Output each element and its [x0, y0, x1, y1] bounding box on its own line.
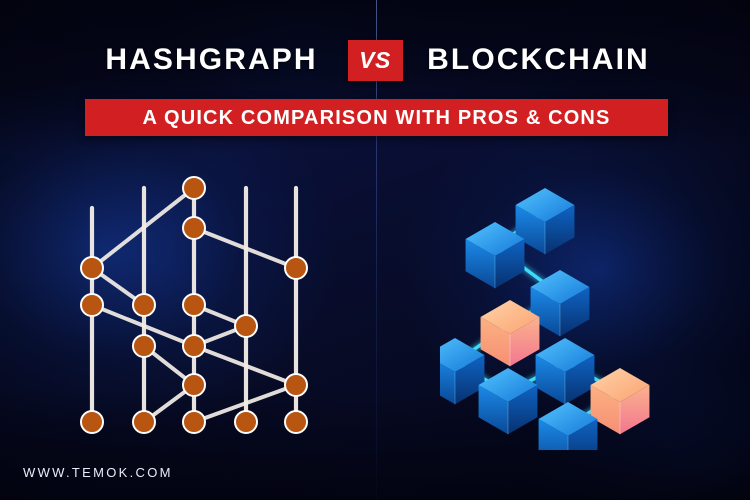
hashgraph-node-n1 — [183, 177, 205, 199]
hashgraph-node-n16 — [235, 411, 257, 433]
blockchain-diagram — [440, 160, 700, 450]
blockchain-cube-c9 — [539, 402, 598, 450]
hashgraph-node-n8 — [235, 315, 257, 337]
hashgraph-node-n10 — [183, 335, 205, 357]
hashgraph-node-n15 — [183, 411, 205, 433]
vs-badge: VS — [348, 40, 403, 81]
hashgraph-node-n14 — [133, 411, 155, 433]
hashgraph-svg — [60, 160, 350, 450]
hashgraph-node-n11 — [183, 374, 205, 396]
header: HASHGRAPH VS BLOCKCHAIN A QUICK COMPARIS… — [0, 36, 750, 140]
hashgraph-node-n12 — [285, 374, 307, 396]
hashgraph-node-n17 — [285, 411, 307, 433]
blockchain-cube-c6 — [479, 368, 538, 434]
hashgraph-node-n13 — [81, 411, 103, 433]
hashgraph-node-n9 — [133, 335, 155, 357]
hashgraph-diagram — [60, 160, 350, 450]
blockchain-cube-c7 — [536, 338, 595, 404]
blockchain-cube-c8 — [591, 368, 650, 434]
title-row: HASHGRAPH VS BLOCKCHAIN — [0, 36, 750, 84]
subtitle-bar: A QUICK COMPARISON WITH PROS & CONS — [85, 99, 668, 136]
blockchain-cubes — [440, 188, 649, 450]
footer: WWW.TEMOK.COM — [23, 464, 173, 482]
title-blockchain: BLOCKCHAIN — [403, 45, 675, 75]
blockchain-svg — [440, 160, 700, 450]
hashgraph-node-n7 — [183, 294, 205, 316]
title-hashgraph: HASHGRAPH — [76, 45, 348, 75]
hashgraph-node-n2 — [183, 217, 205, 239]
website-url: WWW.TEMOK.COM — [23, 465, 173, 480]
subtitle-text: A QUICK COMPARISON WITH PROS & CONS — [142, 108, 610, 128]
hashgraph-node-n6 — [133, 294, 155, 316]
hashgraph-node-n3 — [81, 257, 103, 279]
poster-canvas: HASHGRAPH VS BLOCKCHAIN A QUICK COMPARIS… — [0, 0, 750, 500]
hashgraph-node-n4 — [285, 257, 307, 279]
hashgraph-node-n5 — [81, 294, 103, 316]
